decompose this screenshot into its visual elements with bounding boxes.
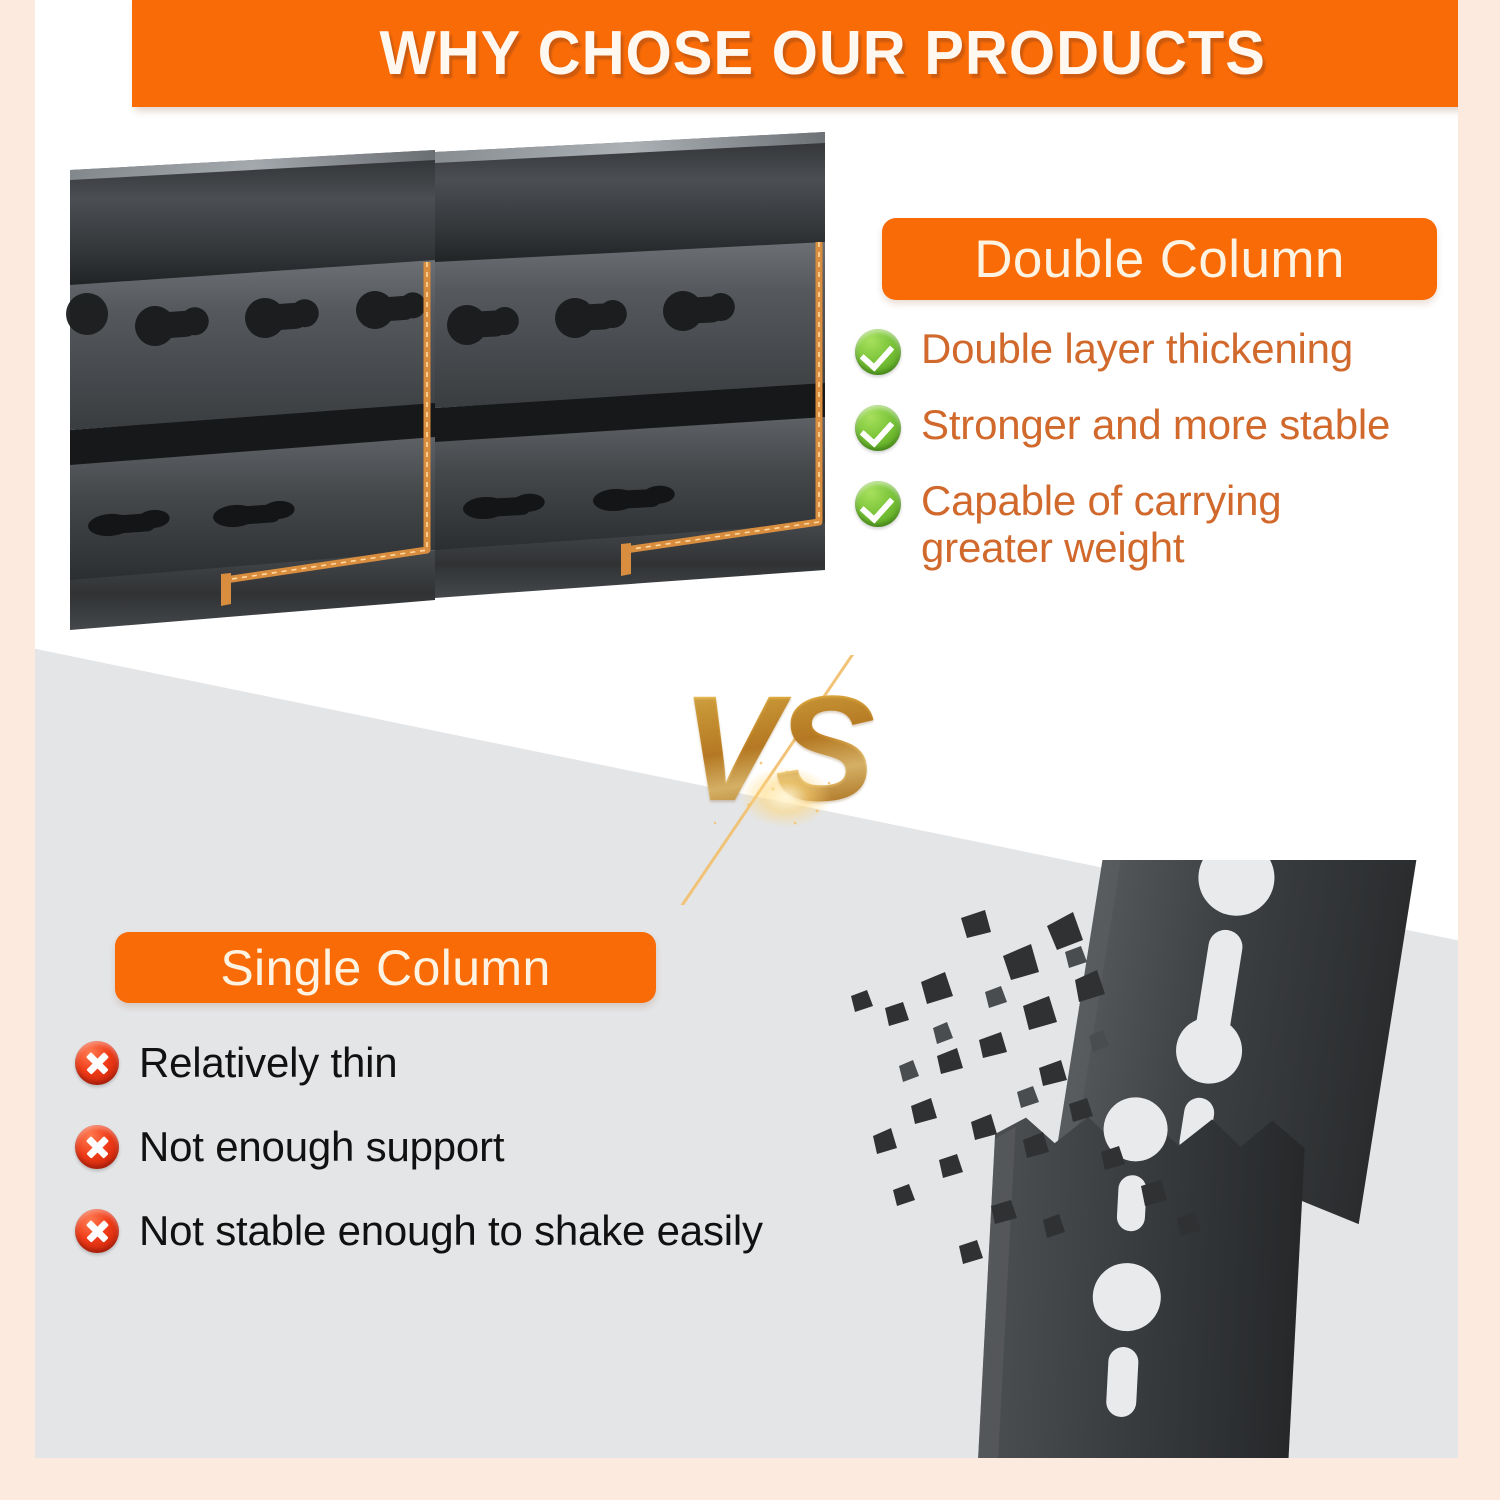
check-icon [855, 329, 901, 375]
cross-icon [75, 1209, 119, 1253]
page-title: WHY CHOSE OUR PRODUCTS [380, 18, 1266, 89]
check-icon [855, 405, 901, 451]
double-column-beam-photo [35, 130, 835, 630]
list-item: Not stable enough to shake easily [75, 1208, 875, 1254]
list-item: Not enough support [75, 1124, 875, 1170]
badge-double-column: Double Column [882, 218, 1437, 300]
badge-single-column: Single Column [115, 932, 656, 1003]
broken-single-column-photo [825, 860, 1458, 1458]
list-item: Relatively thin [75, 1040, 875, 1086]
pro-feature-label: Stronger and more stable [921, 401, 1390, 448]
infographic-page: WHY CHOSE OUR PRODUCTS Double Column Dou… [0, 0, 1500, 1500]
versus-graphic: VS [645, 655, 905, 905]
con-feature-label: Not stable enough to shake easily [139, 1208, 763, 1254]
badge-single-column-label: Single Column [220, 939, 550, 997]
list-item: Double layer thickening [855, 325, 1455, 375]
pros-list: Double layer thickening Stronger and mor… [855, 325, 1455, 597]
pro-feature-label: Capable of carrying greater weight [921, 477, 1341, 571]
pro-feature-label: Double layer thickening [921, 325, 1353, 372]
cross-icon [75, 1125, 119, 1169]
header-banner: WHY CHOSE OUR PRODUCTS [132, 0, 1458, 107]
cons-list: Relatively thin Not enough support Not s… [75, 1040, 875, 1293]
vs-label: VS [645, 673, 905, 823]
badge-double-column-label: Double Column [974, 229, 1345, 290]
cross-icon [75, 1041, 119, 1085]
con-feature-label: Relatively thin [139, 1040, 397, 1086]
content-canvas: WHY CHOSE OUR PRODUCTS Double Column Dou… [35, 0, 1458, 1458]
list-item: Stronger and more stable [855, 401, 1455, 451]
check-icon [855, 481, 901, 527]
con-feature-label: Not enough support [139, 1124, 504, 1170]
list-item: Capable of carrying greater weight [855, 477, 1455, 571]
